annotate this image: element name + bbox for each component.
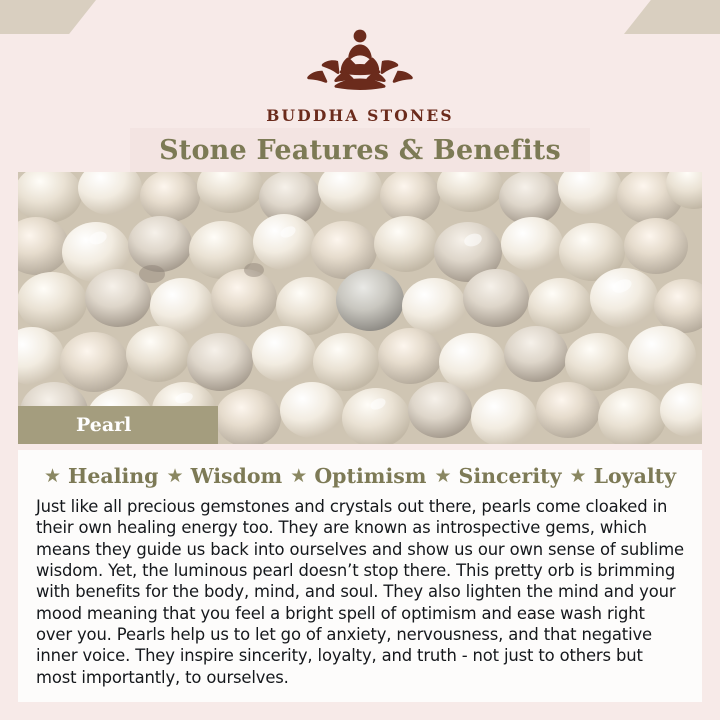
star-icon: ★: [167, 467, 184, 486]
keyword-item-optimism: ★ Optimism: [290, 464, 426, 488]
benefits-card: ★ Healing ★ Wisdom ★ Optimism ★ Sincerit…: [18, 450, 702, 702]
keyword-item-wisdom: ★ Wisdom: [167, 464, 283, 488]
description-paragraph: Just like all precious gemstones and cry…: [36, 496, 684, 688]
brand-logo: BUDDHA STONES: [0, 22, 720, 125]
pearls-photo-graphic: [18, 172, 702, 444]
keyword-label: Optimism: [314, 464, 426, 488]
keyword-list: ★ Healing ★ Wisdom ★ Optimism ★ Sincerit…: [36, 464, 684, 488]
star-icon: ★: [570, 467, 587, 486]
bottom-strip: [0, 702, 720, 720]
page-title: Stone Features & Benefits: [159, 135, 561, 166]
keyword-item-sincerity: ★ Sincerity: [434, 464, 561, 488]
stone-name: Pearl: [76, 414, 131, 436]
lotus-meditation-figure-icon: [290, 22, 430, 100]
keyword-label: Wisdom: [191, 464, 283, 488]
infographic-page: BUDDHA STONES Stone Features & Benefits: [0, 0, 720, 720]
photo-caption-bar: Pearl: [18, 406, 218, 444]
keyword-label: Sincerity: [459, 464, 562, 488]
brand-name: BUDDHA STONES: [266, 106, 454, 125]
pearls-photo: [18, 172, 702, 444]
keyword-label: Loyalty: [594, 464, 676, 488]
keyword-item-healing: ★ Healing: [44, 464, 159, 488]
keyword-label: Healing: [68, 464, 159, 488]
star-icon: ★: [290, 467, 307, 486]
star-icon: ★: [44, 467, 61, 486]
title-band: Stone Features & Benefits: [130, 128, 590, 172]
keyword-item-loyalty: ★ Loyalty: [570, 464, 677, 488]
star-icon: ★: [434, 467, 451, 486]
